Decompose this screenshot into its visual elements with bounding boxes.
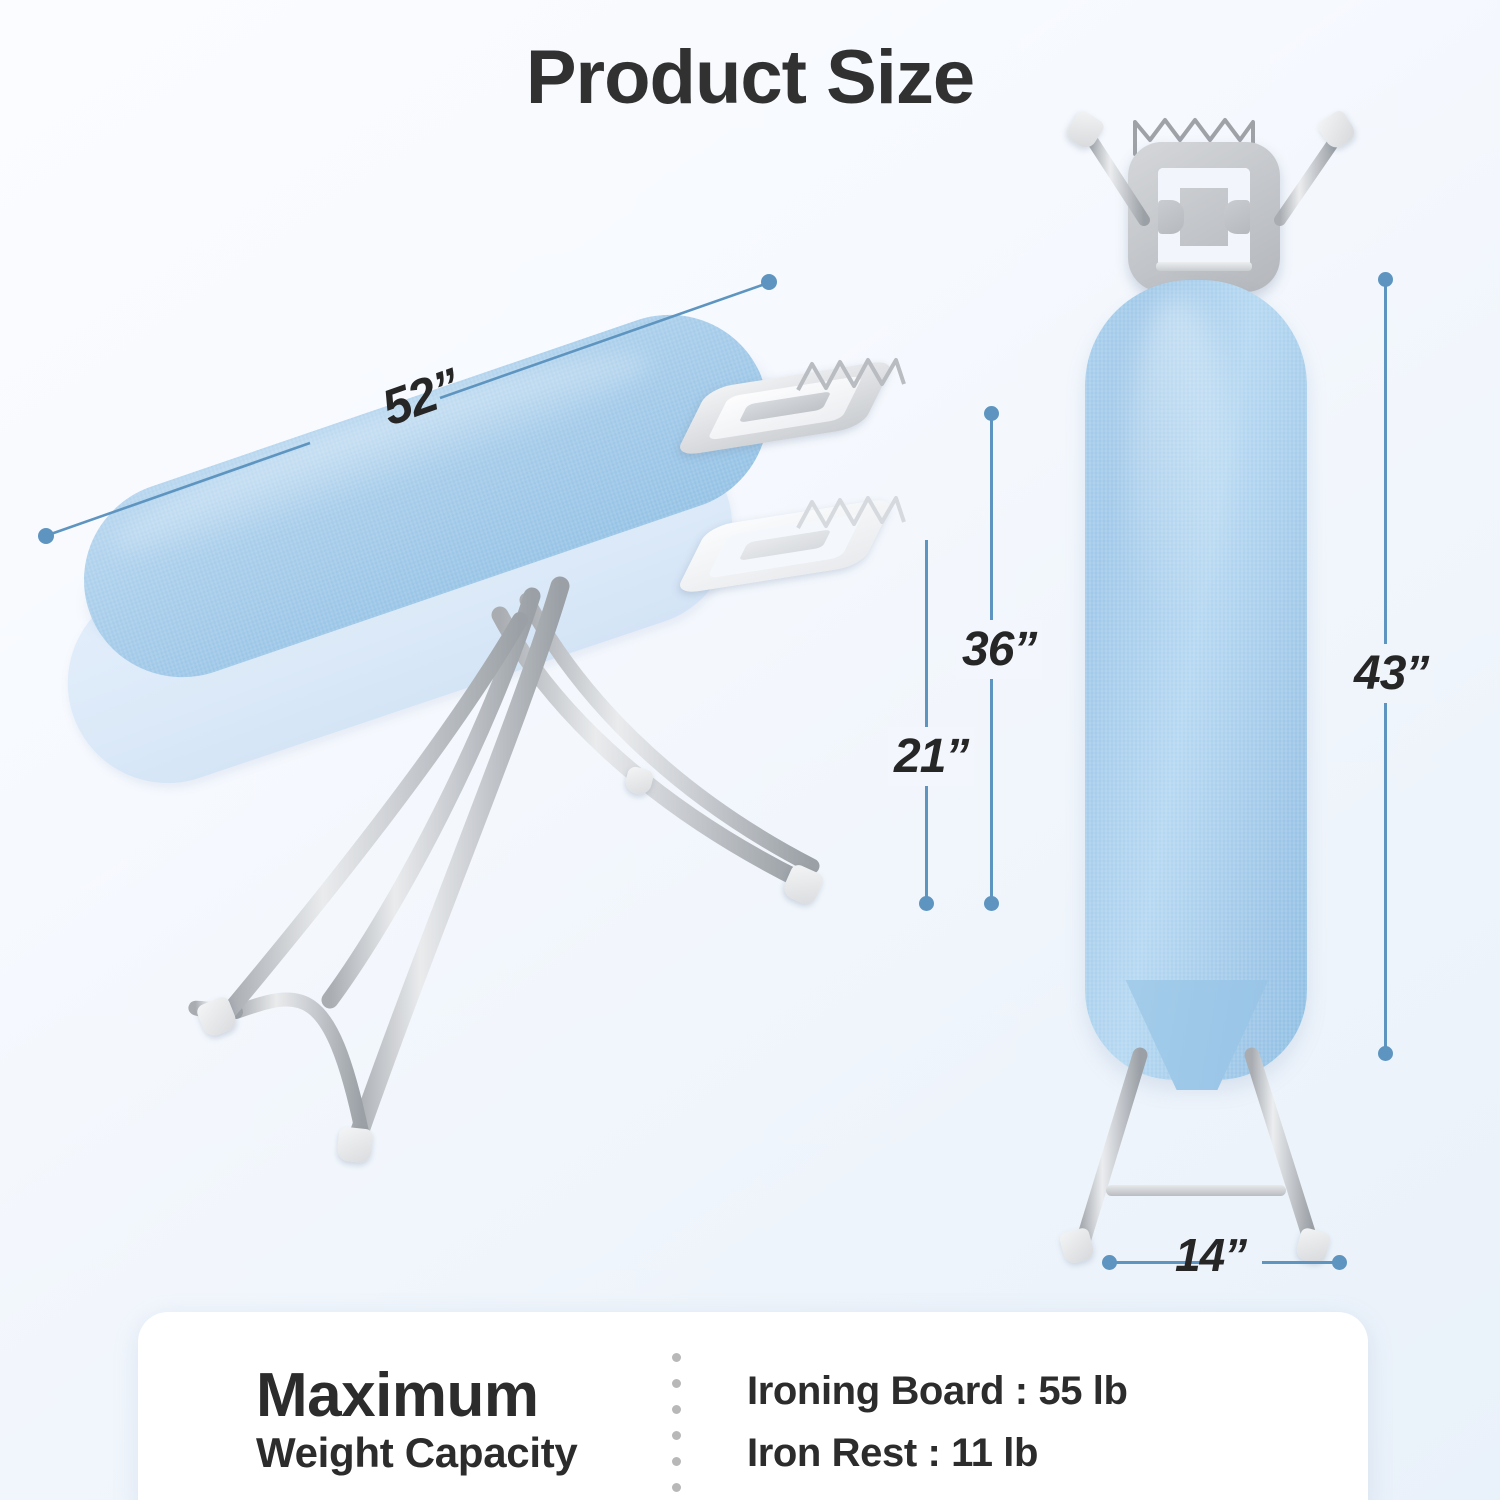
divider-dot: [672, 1379, 681, 1388]
dimension-label-36: 36”: [956, 620, 1042, 679]
capacity-heading-line1: Maximum: [256, 1364, 658, 1427]
capacity-item-iron-rest: Iron Rest : 11 lb: [747, 1422, 1128, 1484]
dimension-line-21: [925, 540, 928, 906]
divider-dot: [672, 1483, 681, 1492]
divider-dot: [672, 1431, 681, 1440]
perspective-leg-frame: [0, 0, 940, 1260]
dimension-dot-36-bottom: [984, 896, 999, 911]
dimension-label-43: 43”: [1348, 644, 1434, 703]
capacity-values: Ironing Board : 55 lb Iron Rest : 11 lb: [747, 1360, 1128, 1484]
dimension-label-14: 14”: [1175, 1228, 1246, 1282]
ironing-board-perspective-view: [0, 0, 940, 1260]
leg-foot-front: [336, 1126, 373, 1163]
dimension-dot-21-bottom: [919, 896, 934, 911]
divider-dot: [672, 1457, 681, 1466]
product-size-infographic: Product Size: [0, 0, 1500, 1500]
weight-capacity-card: Maximum Weight Capacity Ironing Board : …: [138, 1312, 1368, 1500]
dimension-dot-43-bottom: [1378, 1046, 1393, 1061]
capacity-heading: Maximum Weight Capacity: [138, 1364, 658, 1480]
dimension-line-14-right: [1262, 1261, 1340, 1264]
dimension-dot-14-right: [1332, 1255, 1347, 1270]
dimension-label-21: 21”: [888, 727, 974, 786]
capacity-heading-line2: Weight Capacity: [256, 1427, 658, 1480]
divider-dot: [672, 1405, 681, 1414]
capacity-item-ironing-board: Ironing Board : 55 lb: [747, 1360, 1128, 1422]
front-view-upper-legs: [1040, 118, 1440, 278]
dimension-dot-43-top: [1378, 272, 1393, 287]
dimension-dot-14-left: [1102, 1255, 1117, 1270]
dimension-dot-36-top: [984, 406, 999, 421]
dotted-divider: [672, 1353, 681, 1492]
front-view-board-surface: [1085, 280, 1307, 1080]
divider-dot: [672, 1353, 681, 1362]
front-view-cross-brace: [1106, 1185, 1286, 1196]
